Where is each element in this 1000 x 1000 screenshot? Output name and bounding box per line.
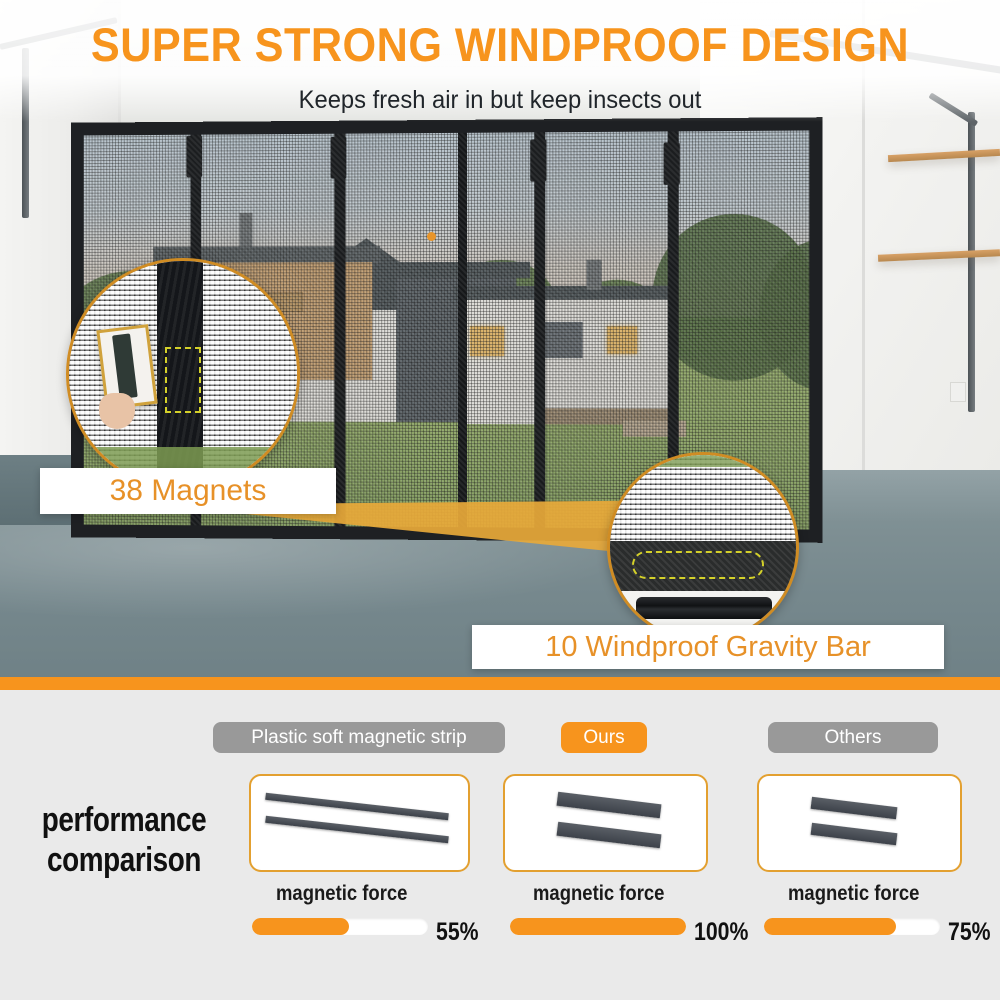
product-infographic: SUPER STRONG WINDPROOF DESIGN Keeps fres… xyxy=(0,0,1000,1000)
percent-label-2: 100% xyxy=(694,918,748,947)
pill-label: Ours xyxy=(583,727,624,749)
progress-track-3 xyxy=(764,918,940,935)
magnet-strip-object xyxy=(112,333,138,399)
progress-fill-3 xyxy=(764,918,896,935)
wall-socket-icon xyxy=(950,382,966,402)
product-card-ours xyxy=(503,774,708,872)
magnets-zoom-circle xyxy=(66,258,300,490)
page-subtitle: Keeps fresh air in but keep insects out xyxy=(25,86,975,115)
zoom-grass xyxy=(610,452,796,467)
strip-object xyxy=(265,793,449,820)
zoom-mesh-texture xyxy=(610,455,796,551)
percent-label-3: 75% xyxy=(948,918,991,947)
title-line-2: comparison xyxy=(29,840,219,880)
page-title: SUPER STRONG WINDPROOF DESIGN xyxy=(40,20,960,70)
pill-others: Others xyxy=(768,722,938,753)
progress-track-2 xyxy=(510,918,686,935)
gravity-bar-callout-label: 10 Windproof Gravity Bar xyxy=(472,625,944,669)
hero-photo: SUPER STRONG WINDPROOF DESIGN Keeps fres… xyxy=(0,0,1000,677)
strip-object xyxy=(811,823,898,845)
progress-fill-2 xyxy=(510,918,686,935)
section-divider xyxy=(0,677,1000,690)
gravity-bar-object xyxy=(636,597,772,619)
percent-label-1: 55% xyxy=(436,918,479,947)
progress-fill-1 xyxy=(252,918,349,935)
pill-label: Others xyxy=(824,727,881,749)
gravity-bar-highlight-outline xyxy=(632,551,764,579)
metric-label-1: magnetic force xyxy=(276,882,407,906)
product-card-others xyxy=(757,774,962,872)
pill-plastic-soft-magnetic-strip: Plastic soft magnetic strip xyxy=(213,722,505,753)
hand xyxy=(99,393,135,429)
magnets-callout-label: 38 Magnets xyxy=(40,468,336,514)
pill-ours: Ours xyxy=(561,722,647,753)
metric-label-2: magnetic force xyxy=(533,882,664,906)
progress-track-1 xyxy=(252,918,428,935)
product-card-plastic-strip xyxy=(249,774,470,872)
strip-object xyxy=(557,822,662,849)
strip-object xyxy=(265,816,449,843)
callout-anchor-dot xyxy=(427,232,436,241)
magnet-highlight-box xyxy=(165,347,201,413)
performance-comparison-section: performance comparison Plastic soft magn… xyxy=(0,690,1000,1000)
strip-object xyxy=(557,792,662,819)
pill-label: Plastic soft magnetic strip xyxy=(251,727,466,749)
gravity-bar-zoom-circle xyxy=(607,452,799,642)
strip-object xyxy=(811,797,898,819)
metric-label-3: magnetic force xyxy=(788,882,919,906)
title-line-1: performance xyxy=(29,800,219,840)
performance-comparison-title: performance comparison xyxy=(29,800,219,880)
